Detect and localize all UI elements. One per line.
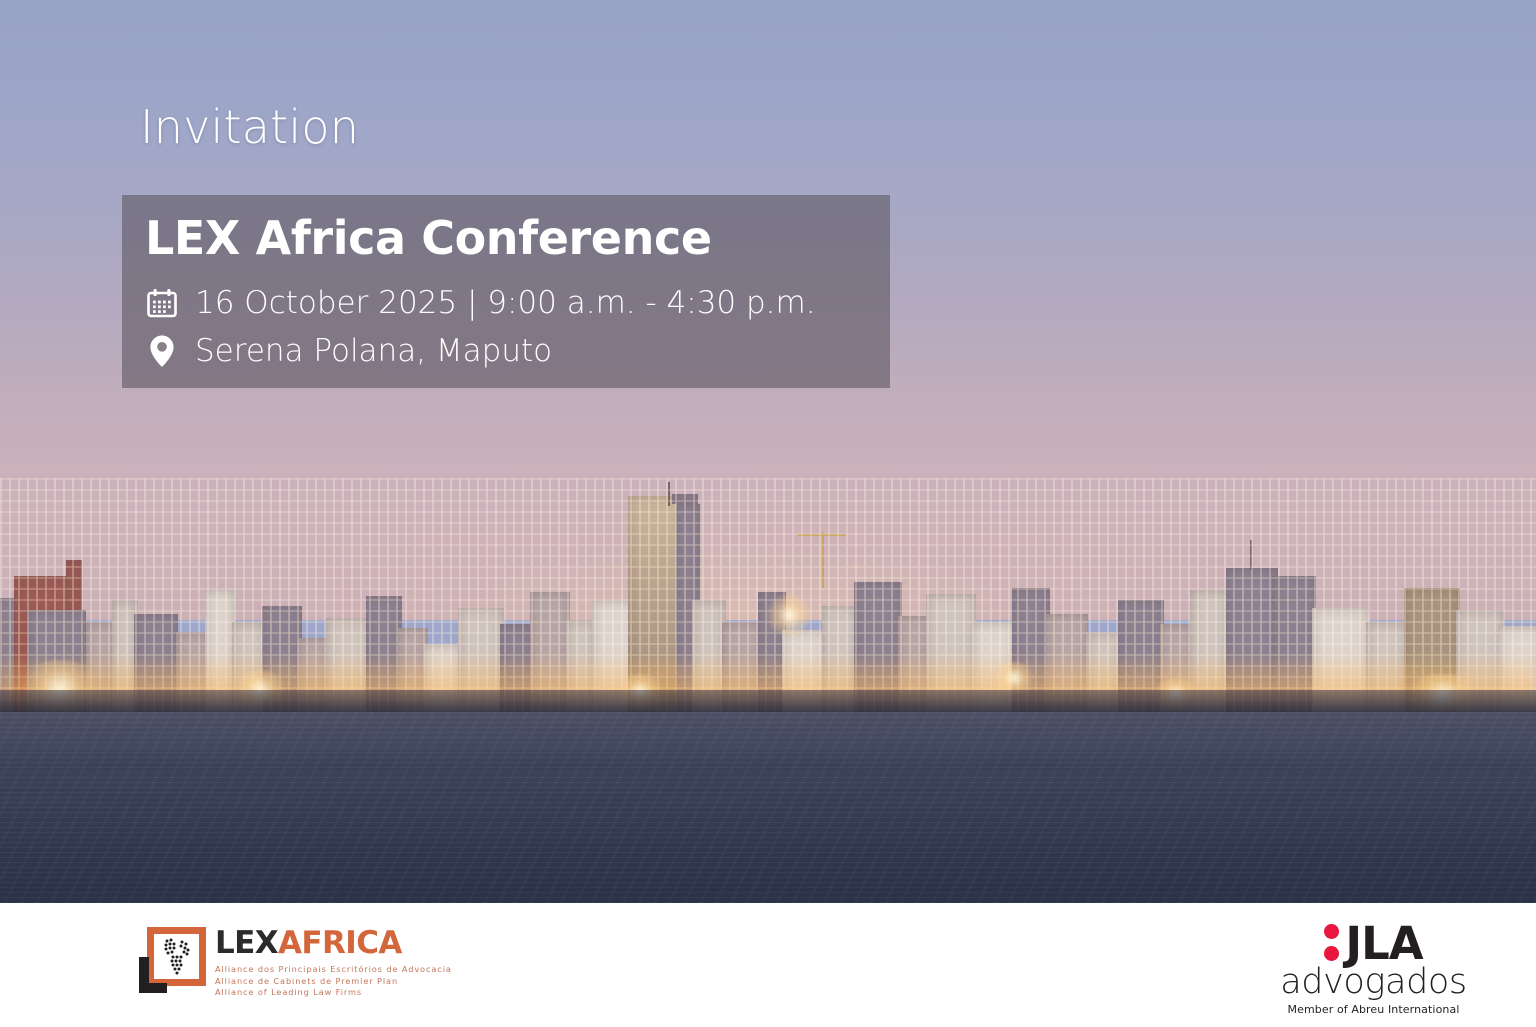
jla-advogados-logo: JLA advogados Member of Abreu Internatio… [1266,921,1481,1016]
tagline-line-fr: Alliance de Cabinets de Premier Plan [215,976,452,988]
lex-africa-name-secondary: AFRICA [278,925,402,961]
bay-water [0,712,1536,903]
location-pin-icon [145,333,179,369]
tagline-line-pt: Alliance dos Principais Escritórios de A… [215,964,452,976]
lex-africa-wordmark: LEXAFRICA Alliance dos Principais Escrit… [215,925,452,999]
jla-colon-dots-icon [1324,924,1339,963]
jla-name: JLA [1345,921,1422,966]
tagline-line-en: Alliance of Leading Law Firms [215,987,452,999]
invitation-poster: Invitation LEX Africa Conference [0,0,1536,1027]
eyebrow-invitation: Invitation [140,100,359,154]
page-title: LEX Africa Conference [145,211,712,265]
lex-africa-logo: LEXAFRICA Alliance dos Principais Escrit… [138,925,452,999]
city-skyline [0,478,1536,718]
lex-africa-tagline: Alliance dos Principais Escritórios de A… [215,964,452,999]
event-info-box: LEX Africa Conference [122,195,890,388]
event-venue-row: Serena Polana, Maputo [145,333,552,369]
lex-africa-name-primary: LEX [215,925,278,961]
jla-member-line: Member of Abreu International [1266,1003,1481,1016]
calendar-icon [145,285,179,321]
event-date-row: 16 October 2025 | 9:00 a.m. - 4:30 p.m. [145,285,816,321]
lex-africa-square-africa-icon [138,925,206,993]
event-date-time: 16 October 2025 | 9:00 a.m. - 4:30 p.m. [195,285,816,321]
jla-subtitle: advogados [1266,964,1481,1001]
event-venue: Serena Polana, Maputo [195,333,552,369]
footer-logos: LEXAFRICA Alliance dos Principais Escrit… [0,903,1536,1027]
